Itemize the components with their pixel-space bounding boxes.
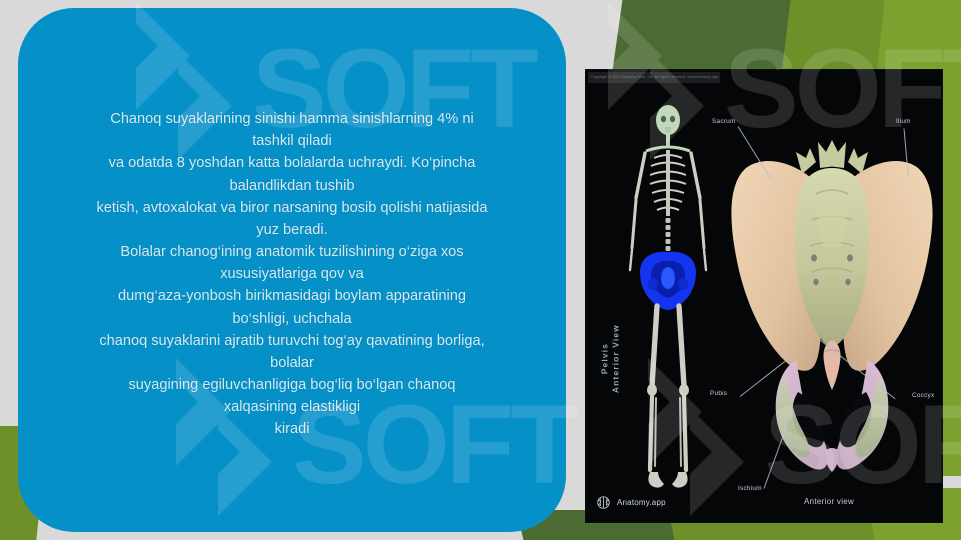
label-pubis: Pubis <box>710 390 727 397</box>
skeleton-pelvis-highlight <box>640 252 696 310</box>
copyright-notice: Copyright © 2023 Anatomy Next, Inc. All … <box>588 72 720 83</box>
brand-name: Anatomy.app <box>617 498 666 507</box>
label-ilium: Ilium <box>896 118 911 125</box>
anterior-view-caption: Anterior view <box>804 497 854 506</box>
decor-green-right-strip <box>939 86 961 476</box>
text-content-panel: Chanoq suyaklarining sinishi hamma sinis… <box>18 8 566 532</box>
anatomy-app-brand: Anatomy.app <box>596 495 666 510</box>
full-skeleton-figure <box>608 98 728 510</box>
label-coccyx: Coccyx <box>912 392 934 399</box>
label-ischium: Ischium <box>738 485 762 492</box>
anatomy-image-panel: Copyright © 2023 Anatomy Next, Inc. All … <box>586 70 942 522</box>
brain-icon <box>596 495 611 510</box>
label-sacrum: Sacrum <box>712 118 736 125</box>
slide-body-text: Chanoq suyaklarining sinishi hamma sinis… <box>44 108 540 441</box>
coccyx <box>823 340 840 390</box>
decor-top-left-notch <box>0 0 16 34</box>
presentation-slide: Chanoq suyaklarining sinishi hamma sinis… <box>0 0 961 540</box>
